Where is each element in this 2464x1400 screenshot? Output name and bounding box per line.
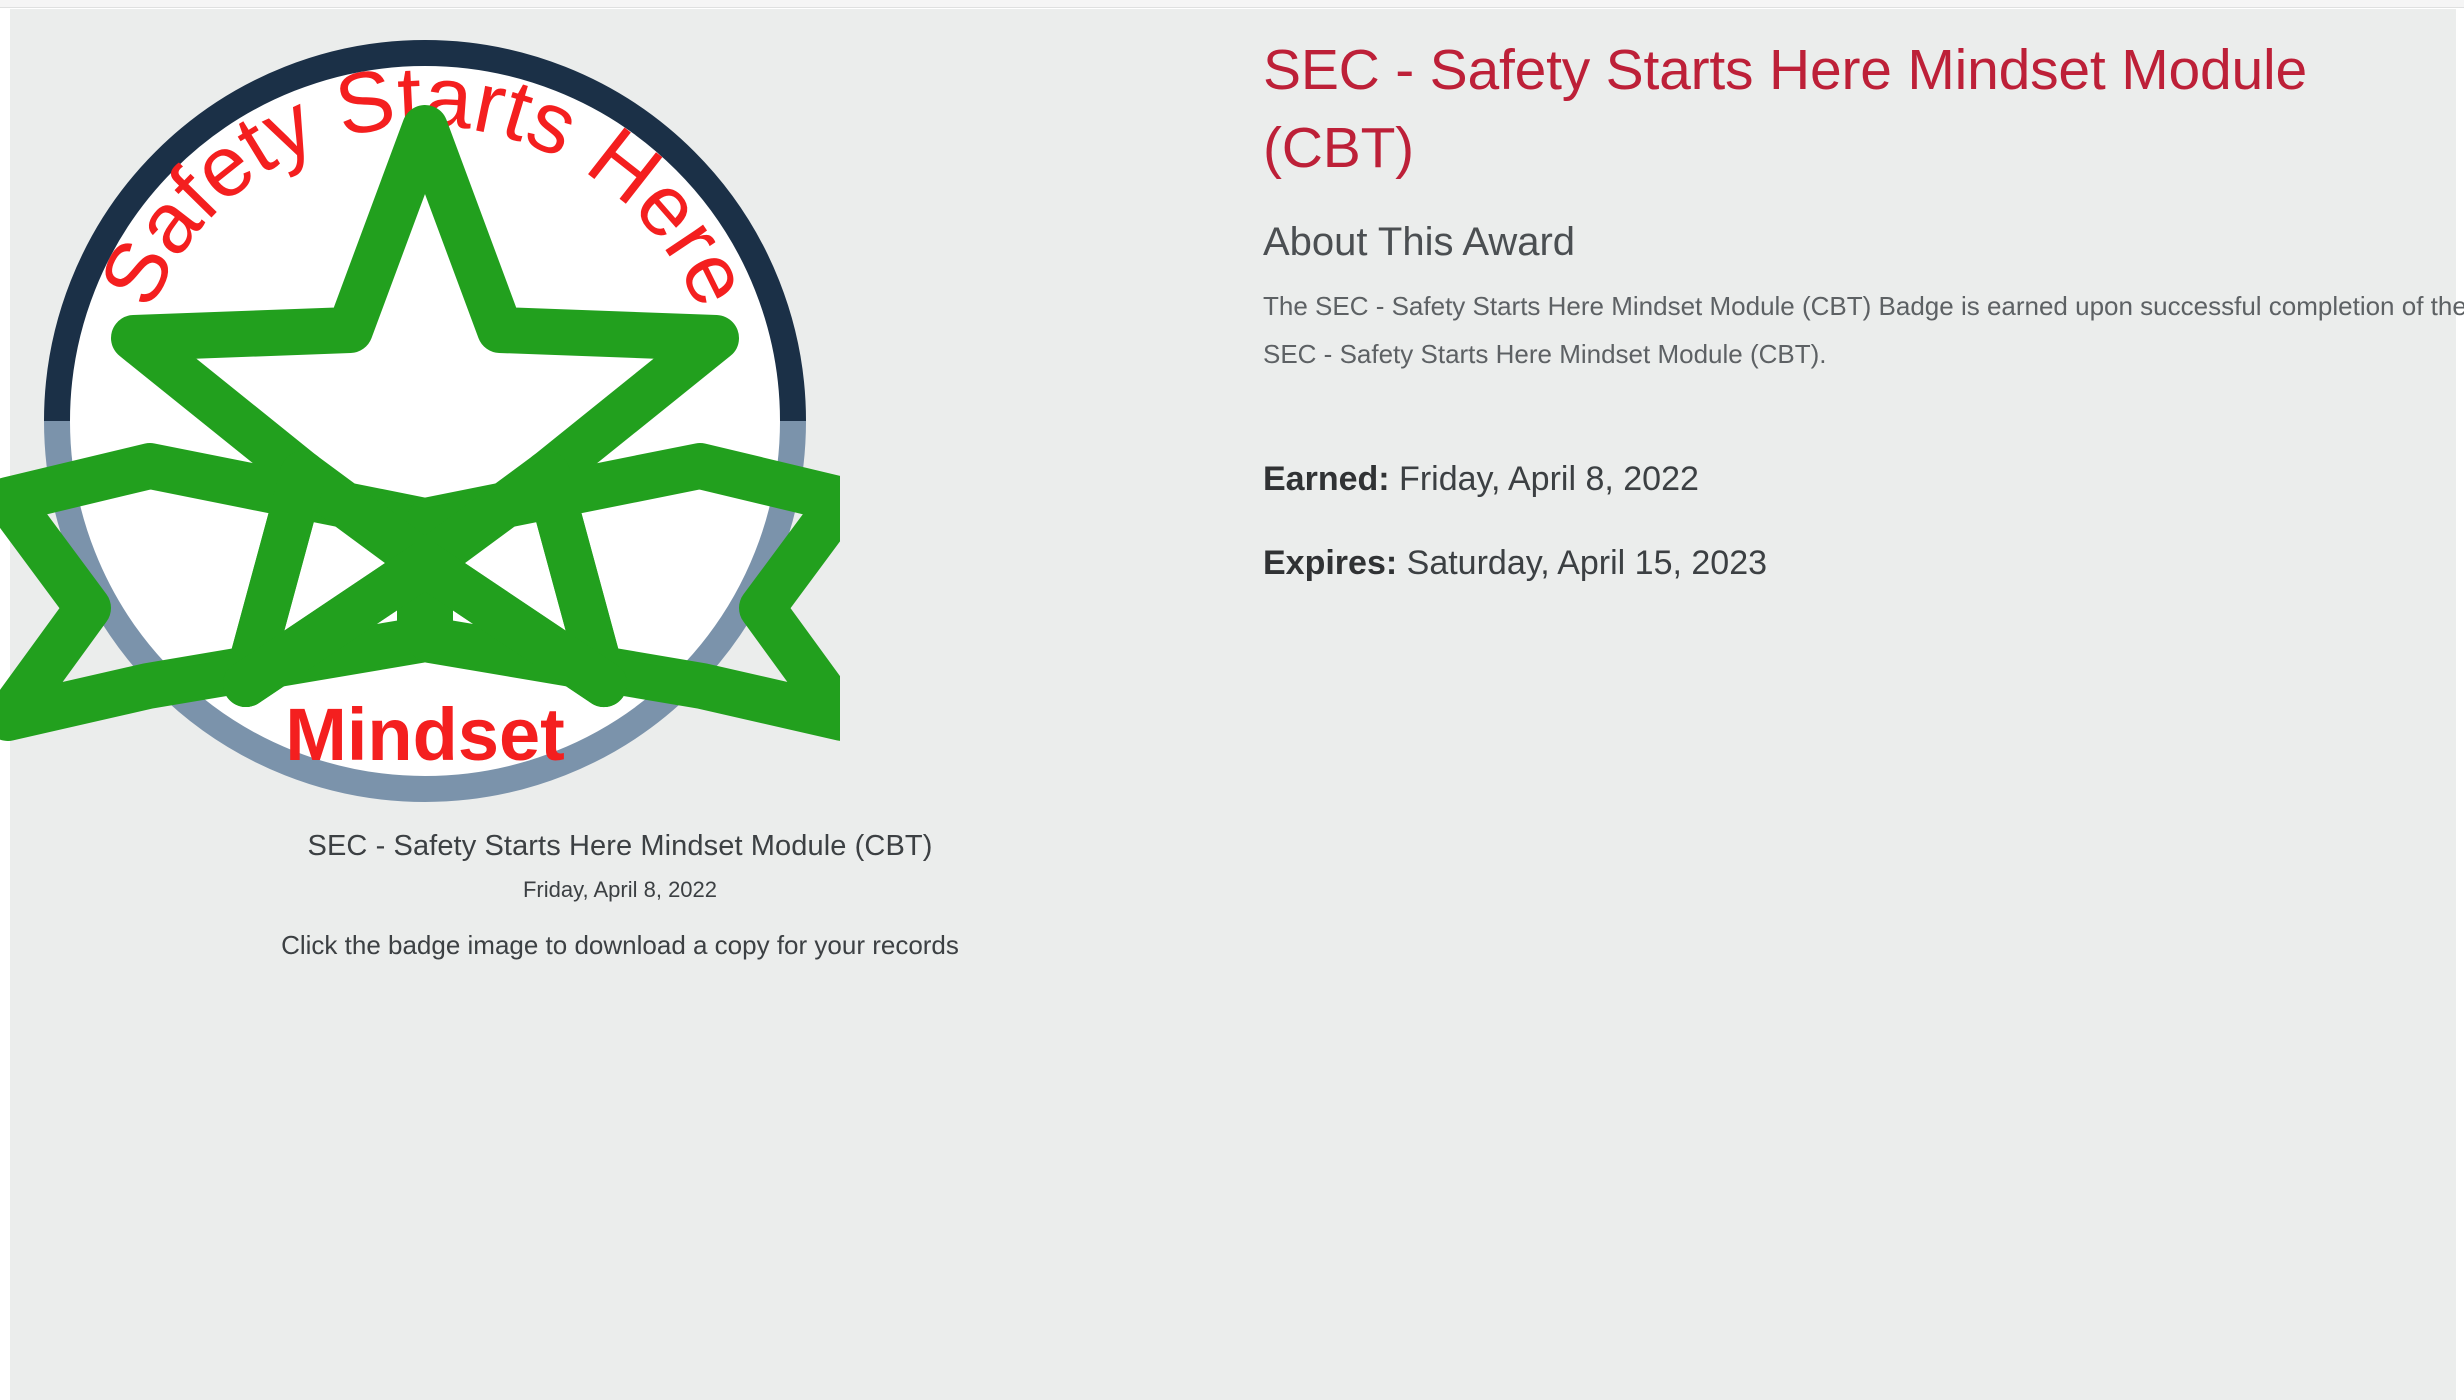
expires-value: Saturday, April 15, 2023 <box>1407 544 1767 582</box>
about-this-award-heading: About This Award <box>1263 216 2463 268</box>
earned-label: Earned: <box>1263 460 1390 498</box>
earned-row: Earned: Friday, April 8, 2022 <box>1263 456 2463 502</box>
badge-image[interactable]: Safety Starts Here <box>0 0 840 820</box>
page-root: Safety Starts Here <box>0 0 2464 1400</box>
expires-row: Expires: Saturday, April 15, 2023 <box>1263 540 2463 586</box>
badge-bottom-text: Mindset <box>285 693 565 776</box>
badge-download-hint: Click the badge image to download a copy… <box>0 928 1240 962</box>
award-detail-column: SEC - Safety Starts Here Mindset Module … <box>1263 31 2463 586</box>
content-surface: Safety Starts Here <box>10 9 2456 1400</box>
about-this-award-body: The SEC - Safety Starts Here Mindset Mod… <box>1263 282 2464 378</box>
award-layout: Safety Starts Here <box>10 9 2456 1400</box>
badge-column: Safety Starts Here <box>10 9 1250 1069</box>
earned-value: Friday, April 8, 2022 <box>1399 460 1699 498</box>
award-title: SEC - Safety Starts Here Mindset Module … <box>1263 31 2353 187</box>
expires-label: Expires: <box>1263 544 1397 582</box>
badge-caption-title: SEC - Safety Starts Here Mindset Module … <box>0 827 1240 865</box>
badge-caption-date: Friday, April 8, 2022 <box>0 875 1240 905</box>
badge-caption: SEC - Safety Starts Here Mindset Module … <box>0 827 1240 962</box>
